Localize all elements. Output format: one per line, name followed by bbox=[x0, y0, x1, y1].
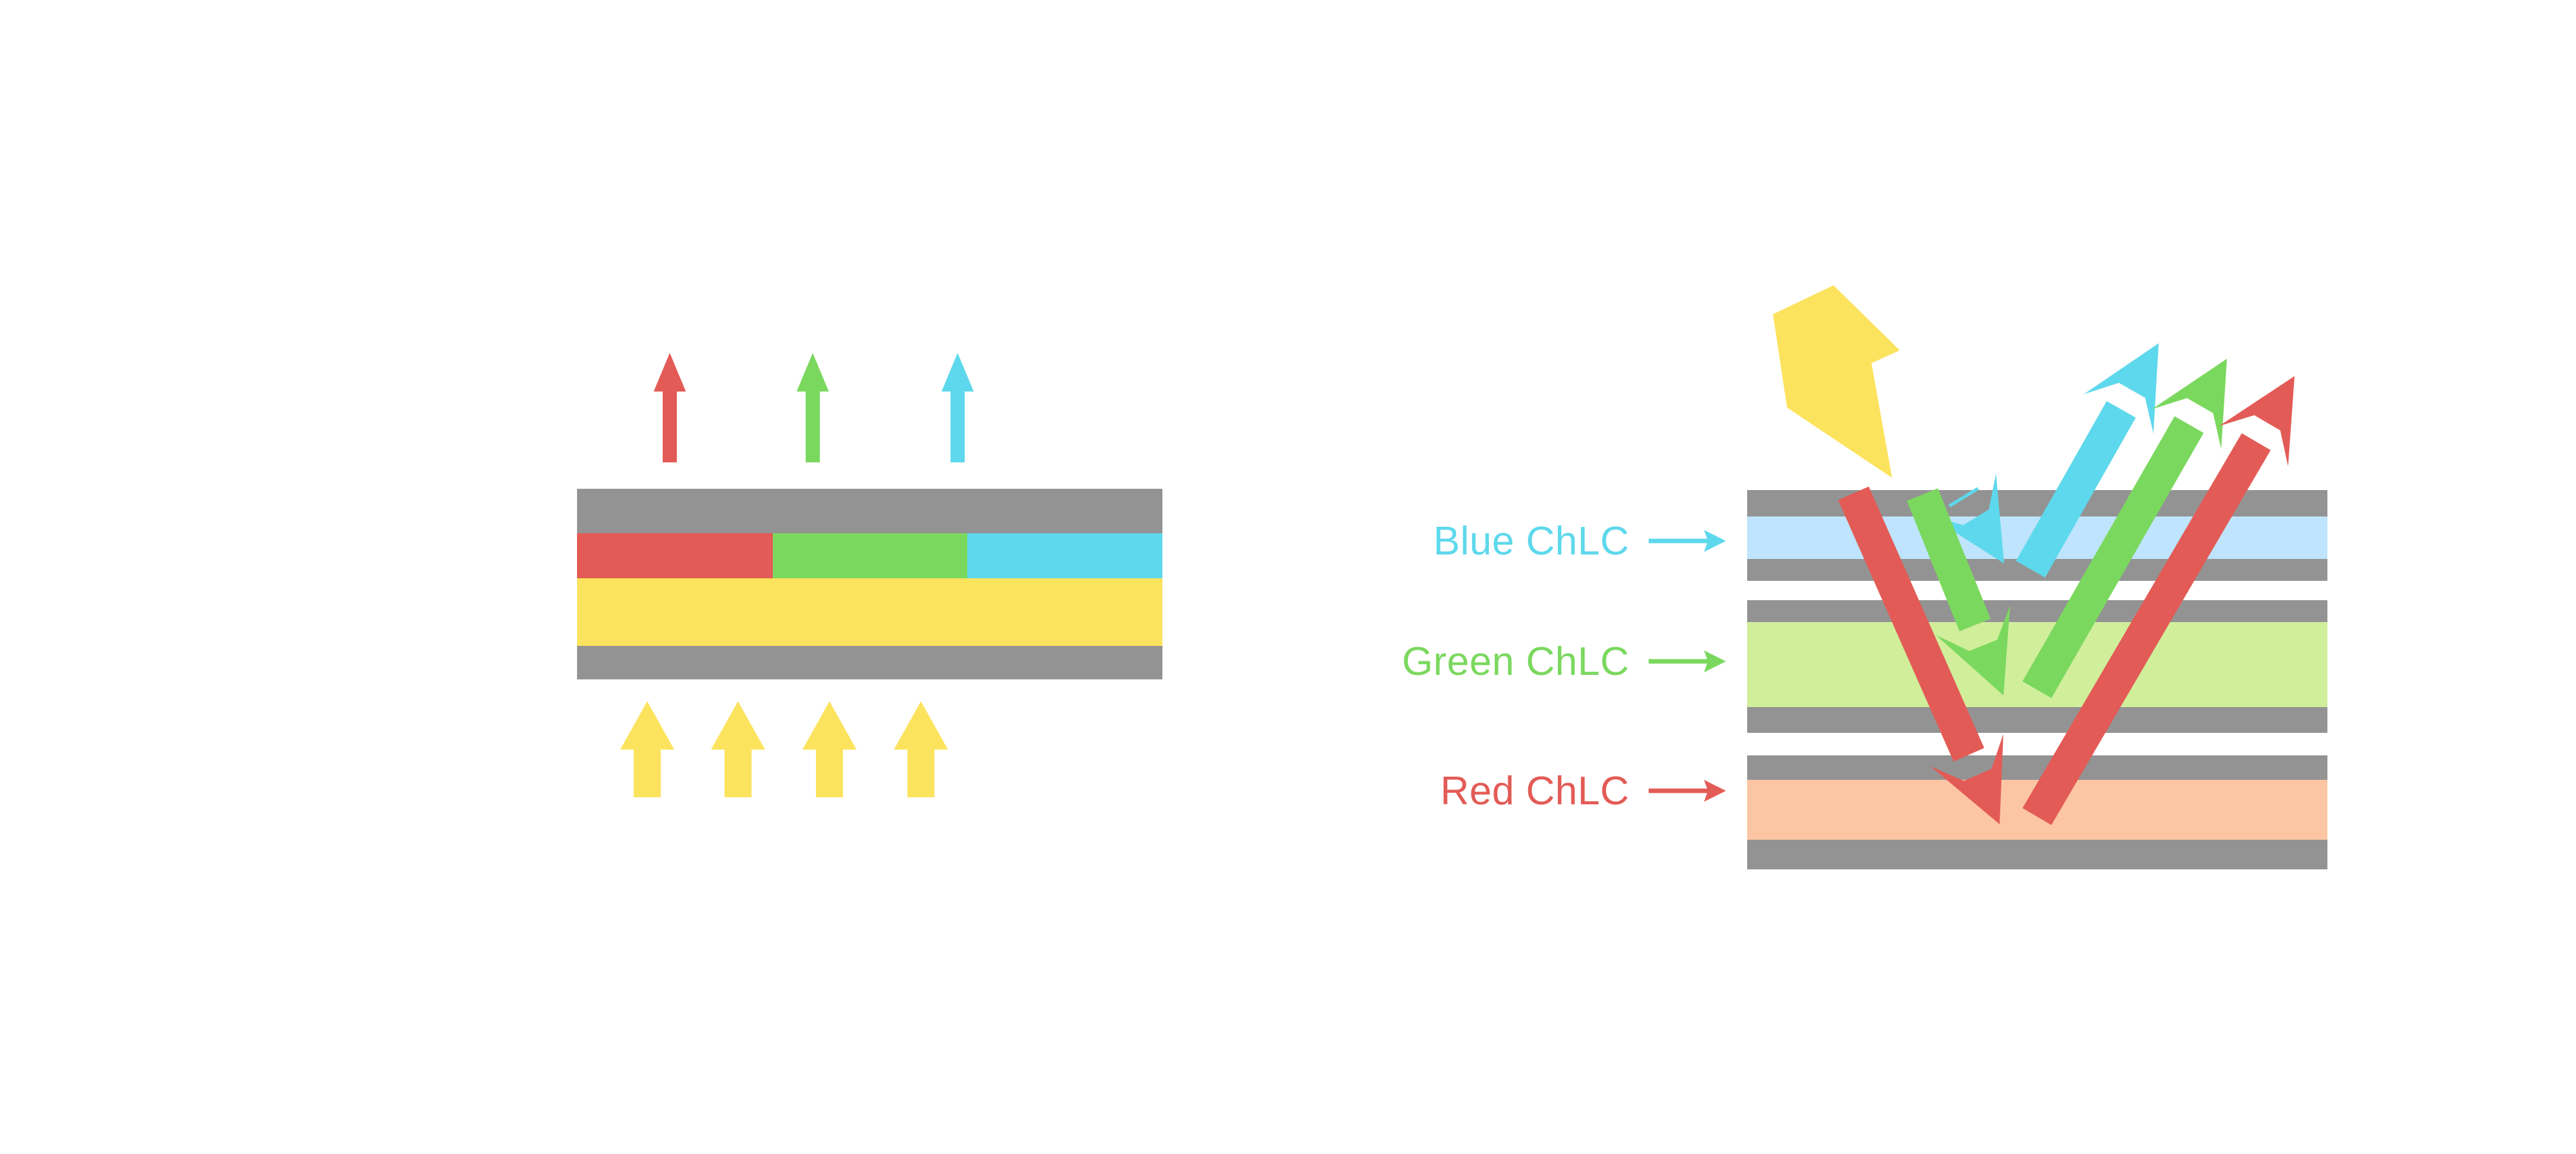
gray-electrode-6 bbox=[1747, 840, 2327, 869]
chlc-display-diagram: Blue ChLC Green ChLC Red ChLC bbox=[0, 0, 2576, 1154]
gray-electrode-3 bbox=[1747, 600, 2327, 622]
blue-chlc-label: Blue ChLC bbox=[1434, 519, 1629, 563]
red-chlc-label: Red ChLC bbox=[1441, 769, 1629, 813]
blue-chlc-leader-arrow bbox=[1649, 530, 1726, 552]
right-panel-graphics: Blue ChLC Green ChLC Red ChLC bbox=[0, 0, 2576, 1154]
right-panel-reflective-stack: Blue ChLC Green ChLC Red ChLC bbox=[0, 0, 2576, 1154]
label-leader-arrow-group bbox=[1649, 530, 1726, 802]
gray-electrode-5 bbox=[1747, 755, 2327, 780]
green-chlc-leader-arrow bbox=[1649, 650, 1726, 672]
gray-electrode-4 bbox=[1747, 707, 2327, 733]
red-chlc-leader-arrow bbox=[1649, 780, 1726, 802]
chlc-ray-group bbox=[1838, 343, 2295, 825]
green-chlc-label: Green ChLC bbox=[1402, 639, 1629, 684]
incident-white-light-arrow bbox=[1773, 285, 1900, 478]
